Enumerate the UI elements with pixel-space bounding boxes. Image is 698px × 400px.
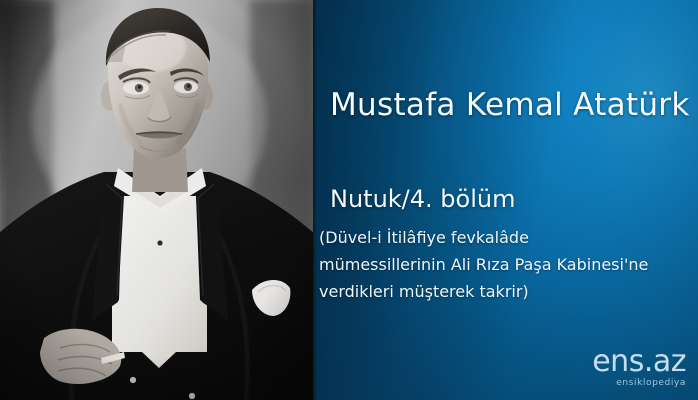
chapter-subtitle: Nutuk/4. bölüm [330, 185, 515, 213]
site-logo[interactable]: ens.az ensiklopediya [592, 347, 686, 388]
page-title: Mustafa Kemal Atatürk [330, 87, 690, 123]
description-line: (Düvel-i İtilâfiye fevkalâde [319, 224, 697, 251]
title-panel: Mustafa Kemal Atatürk Nutuk/4. bölüm (Dü… [313, 0, 698, 400]
description-line: mümessillerinin Ali Rıza Paşa Kabinesi'n… [319, 251, 697, 278]
article-banner: Mustafa Kemal Atatürk Nutuk/4. bölüm (Dü… [0, 0, 698, 400]
site-logo-tagline: ensiklopediya [592, 378, 686, 388]
site-logo-wordmark: ens.az [592, 347, 686, 377]
description-lines: (Düvel-i İtilâfiye fevkalâde mümessiller… [319, 224, 697, 305]
portrait-photo [0, 0, 313, 400]
portrait-photo-illustration [0, 0, 313, 400]
description-line: verdikleri müşterek takrir) [319, 278, 697, 305]
